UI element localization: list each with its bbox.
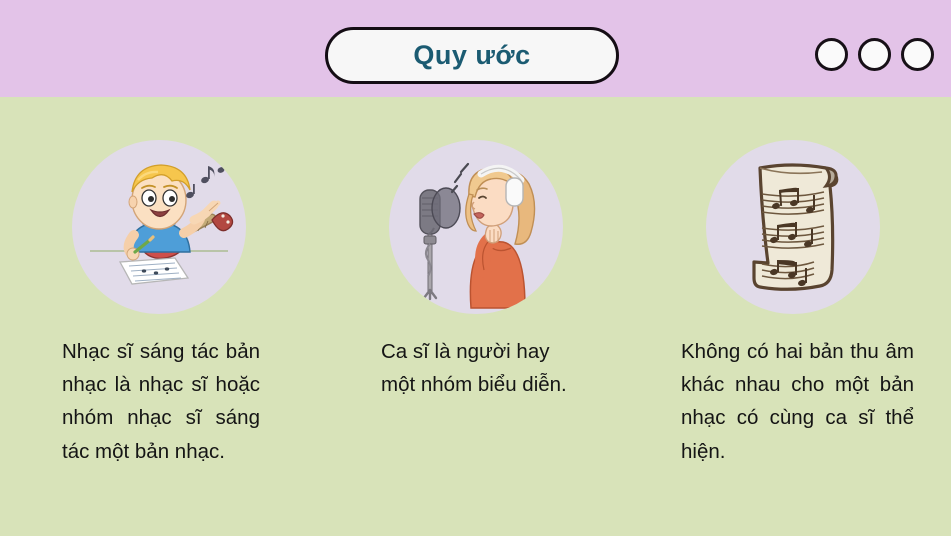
sheet-music-illustration-circle <box>706 140 880 314</box>
sheet-music-caption: Không có hai bản thu âm khác nhau cho mộ… <box>634 335 951 468</box>
column-singer: Ca sĩ là người hay một nhóm biểu diễn. <box>317 97 634 536</box>
composer-caption: Nhạc sĩ sáng tác bản nhạc là nhạc sĩ hoặ… <box>0 335 317 468</box>
content-columns: Nhạc sĩ sáng tác bản nhạc là nhạc sĩ hoặ… <box>0 97 951 536</box>
pagination-dots <box>815 38 934 71</box>
singer-illustration-circle <box>389 140 563 314</box>
header-band: Quy ước <box>0 0 951 97</box>
singer-caption: Ca sĩ là người hay một nhóm biểu diễn. <box>317 335 634 401</box>
pagination-dot-2[interactable] <box>858 38 891 71</box>
sheet-music-scroll-icon <box>706 140 880 314</box>
page-title: Quy ước <box>413 40 530 71</box>
female-singer-with-headphones-at-microphone-icon <box>389 140 563 314</box>
slide-root: Quy ước <box>0 0 951 536</box>
column-composer: Nhạc sĩ sáng tác bản nhạc là nhạc sĩ hoặ… <box>0 97 317 536</box>
pagination-dot-1[interactable] <box>815 38 848 71</box>
pagination-dot-3[interactable] <box>901 38 934 71</box>
composer-illustration-circle <box>72 140 246 314</box>
title-pill: Quy ước <box>325 27 619 84</box>
boy-composing-music-with-guitar-icon <box>72 140 246 314</box>
column-sheet-music: Không có hai bản thu âm khác nhau cho mộ… <box>634 97 951 536</box>
